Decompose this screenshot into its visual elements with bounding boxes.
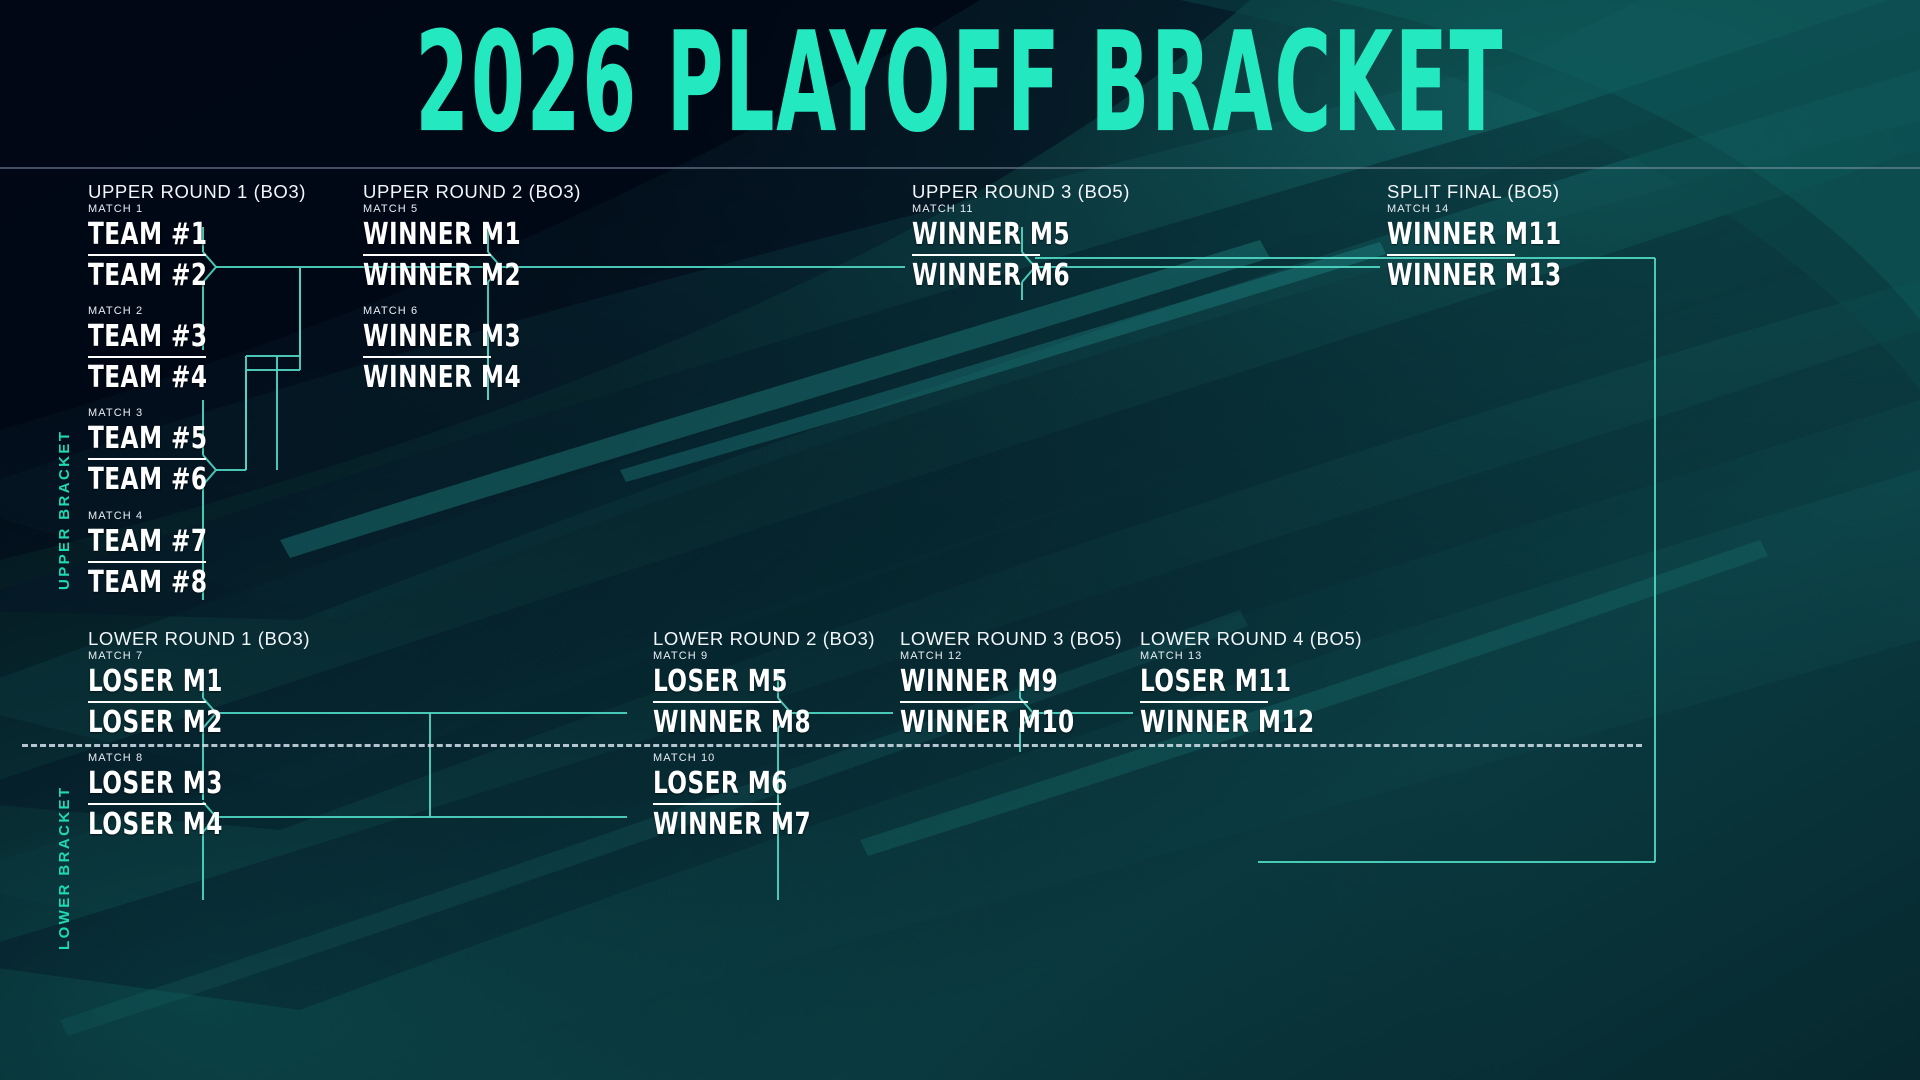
match-5-slot-top[interactable]: WINNER M1 bbox=[363, 220, 544, 251]
match-card-2[interactable]: MATCH 2 TEAM #3 TEAM #4 bbox=[88, 305, 298, 394]
side-label-upper-bracket: UPPER BRACKET bbox=[56, 430, 73, 590]
match-card-9[interactable]: MATCH 9 LOSER M5 WINNER M8 bbox=[653, 650, 863, 739]
match-card-11[interactable]: MATCH 11 WINNER M5 WINNER M6 bbox=[912, 203, 1122, 292]
round-title-lower-round-4: LOWER ROUND 4 (BO5) bbox=[1140, 628, 1362, 650]
match-4-separator bbox=[88, 561, 206, 563]
match-12-slot-top[interactable]: WINNER M9 bbox=[900, 667, 1081, 698]
match-number-4: MATCH 4 bbox=[88, 510, 298, 522]
match-7-separator bbox=[88, 701, 206, 703]
match-number-1: MATCH 1 bbox=[88, 203, 298, 215]
match-13-separator bbox=[1140, 701, 1268, 703]
match-2-separator bbox=[88, 356, 206, 358]
match-6-separator bbox=[363, 356, 491, 358]
match-card-7[interactable]: MATCH 7 LOSER M1 LOSER M2 bbox=[88, 650, 298, 739]
match-number-3: MATCH 3 bbox=[88, 407, 298, 419]
match-12-slot-bottom[interactable]: WINNER M10 bbox=[900, 708, 1081, 739]
match-8-slot-top[interactable]: LOSER M3 bbox=[88, 769, 269, 800]
round-title-upper-round-1: UPPER ROUND 1 (BO3) bbox=[88, 181, 306, 203]
match-card-8[interactable]: MATCH 8 LOSER M3 LOSER M4 bbox=[88, 752, 298, 841]
round-title-upper-round-2: UPPER ROUND 2 (BO3) bbox=[363, 181, 581, 203]
match-13-slot-top[interactable]: LOSER M11 bbox=[1140, 667, 1321, 698]
match-6-slot-bottom[interactable]: WINNER M4 bbox=[363, 363, 544, 394]
match-8-separator bbox=[88, 803, 206, 805]
match-8-slot-bottom[interactable]: LOSER M4 bbox=[88, 810, 269, 841]
match-card-14[interactable]: MATCH 14 WINNER M11 WINNER M13 bbox=[1387, 203, 1597, 292]
match-number-10: MATCH 10 bbox=[653, 752, 863, 764]
match-card-4[interactable]: MATCH 4 TEAM #7 TEAM #8 bbox=[88, 510, 298, 599]
match-1-slot-bottom[interactable]: TEAM #2 bbox=[88, 261, 269, 292]
match-1-slot-top[interactable]: TEAM #1 bbox=[88, 220, 269, 251]
round-title-lower-round-2: LOWER ROUND 2 (BO3) bbox=[653, 628, 875, 650]
match-3-separator bbox=[88, 458, 206, 460]
match-card-13[interactable]: MATCH 13 LOSER M11 WINNER M12 bbox=[1140, 650, 1350, 739]
match-number-7: MATCH 7 bbox=[88, 650, 298, 662]
match-3-slot-bottom[interactable]: TEAM #6 bbox=[88, 465, 269, 496]
match-number-2: MATCH 2 bbox=[88, 305, 298, 317]
match-11-separator bbox=[912, 254, 1040, 256]
match-10-separator bbox=[653, 803, 781, 805]
match-card-12[interactable]: MATCH 12 WINNER M9 WINNER M10 bbox=[900, 650, 1110, 739]
match-1-separator bbox=[88, 254, 206, 256]
round-title-split-final: SPLIT FINAL (BO5) bbox=[1387, 181, 1560, 203]
round-title-upper-round-3: UPPER ROUND 3 (BO5) bbox=[912, 181, 1130, 203]
match-card-3[interactable]: MATCH 3 TEAM #5 TEAM #6 bbox=[88, 407, 298, 496]
title-divider-rule bbox=[0, 167, 1920, 169]
match-5-slot-bottom[interactable]: WINNER M2 bbox=[363, 261, 544, 292]
page-title: 2026 PLAYOFF BRACKET bbox=[416, 15, 1505, 153]
match-14-slot-bottom[interactable]: WINNER M13 bbox=[1387, 261, 1568, 292]
match-9-separator bbox=[653, 701, 781, 703]
match-4-slot-top[interactable]: TEAM #7 bbox=[88, 527, 269, 558]
match-number-6: MATCH 6 bbox=[363, 305, 573, 317]
round-title-lower-round-1: LOWER ROUND 1 (BO3) bbox=[88, 628, 310, 650]
match-13-slot-bottom[interactable]: WINNER M12 bbox=[1140, 708, 1321, 739]
match-card-1[interactable]: MATCH 1 TEAM #1 TEAM #2 bbox=[88, 203, 298, 292]
match-number-8: MATCH 8 bbox=[88, 752, 298, 764]
match-14-slot-top[interactable]: WINNER M11 bbox=[1387, 220, 1568, 251]
match-number-9: MATCH 9 bbox=[653, 650, 863, 662]
match-2-slot-bottom[interactable]: TEAM #4 bbox=[88, 363, 269, 394]
match-number-13: MATCH 13 bbox=[1140, 650, 1350, 662]
match-11-slot-top[interactable]: WINNER M5 bbox=[912, 220, 1093, 251]
match-card-6[interactable]: MATCH 6 WINNER M3 WINNER M4 bbox=[363, 305, 573, 394]
match-11-slot-bottom[interactable]: WINNER M6 bbox=[912, 261, 1093, 292]
match-card-10[interactable]: MATCH 10 LOSER M6 WINNER M7 bbox=[653, 752, 863, 841]
title-banner: 2026 PLAYOFF BRACKET bbox=[0, 0, 1920, 168]
match-9-slot-top[interactable]: LOSER M5 bbox=[653, 667, 834, 698]
match-7-slot-bottom[interactable]: LOSER M2 bbox=[88, 708, 269, 739]
match-number-11: MATCH 11 bbox=[912, 203, 1122, 215]
match-number-14: MATCH 14 bbox=[1387, 203, 1597, 215]
side-label-lower-bracket: LOWER BRACKET bbox=[56, 785, 73, 950]
match-3-slot-top[interactable]: TEAM #5 bbox=[88, 424, 269, 455]
match-10-slot-bottom[interactable]: WINNER M7 bbox=[653, 810, 834, 841]
match-5-separator bbox=[363, 254, 491, 256]
match-4-slot-bottom[interactable]: TEAM #8 bbox=[88, 568, 269, 599]
match-card-5[interactable]: MATCH 5 WINNER M1 WINNER M2 bbox=[363, 203, 573, 292]
match-9-slot-bottom[interactable]: WINNER M8 bbox=[653, 708, 834, 739]
match-12-separator bbox=[900, 701, 1028, 703]
round-title-lower-round-3: LOWER ROUND 3 (BO5) bbox=[900, 628, 1122, 650]
match-number-12: MATCH 12 bbox=[900, 650, 1110, 662]
match-2-slot-top[interactable]: TEAM #3 bbox=[88, 322, 269, 353]
match-14-separator bbox=[1387, 254, 1515, 256]
match-7-slot-top[interactable]: LOSER M1 bbox=[88, 667, 269, 698]
match-6-slot-top[interactable]: WINNER M3 bbox=[363, 322, 544, 353]
match-number-5: MATCH 5 bbox=[363, 203, 573, 215]
match-10-slot-top[interactable]: LOSER M6 bbox=[653, 769, 834, 800]
